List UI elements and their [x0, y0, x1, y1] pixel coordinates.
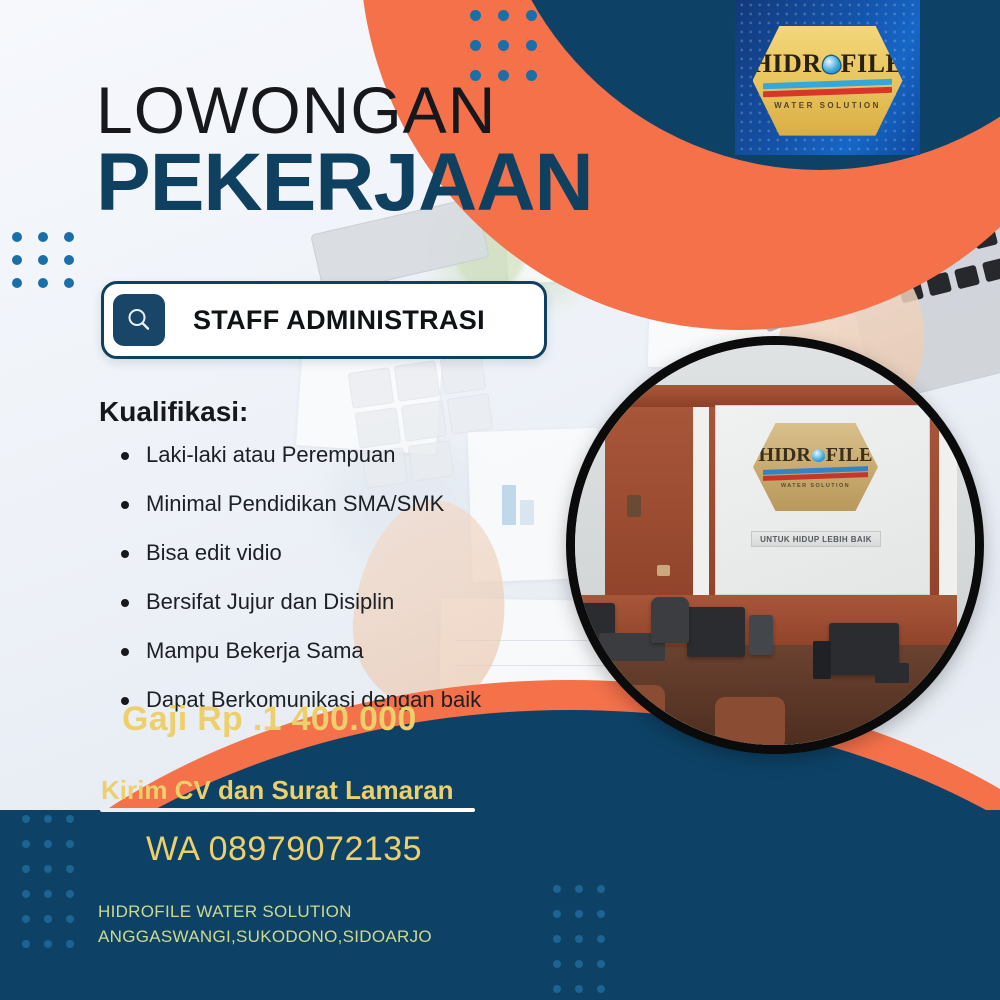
job-vacancy-poster: HIDR FILE WATER SOLUTION — [0, 0, 1000, 1000]
headline-line-1: LOWONGAN — [96, 78, 593, 143]
photo-power-outlet — [657, 565, 670, 576]
qualification-item: Mampu Bekerja Sama — [113, 640, 481, 662]
company-address: ANGGASWANGI,SUKODONO,SIDOARJO — [98, 925, 432, 950]
photo-wall-panel — [627, 495, 641, 517]
brand-logo-panel: HIDR FILE WATER SOLUTION — [735, 0, 920, 155]
dot-grid-bottom-center — [553, 885, 619, 1000]
poster-headline: LOWONGAN PEKERJAAN — [96, 78, 593, 223]
cta-text: Kirim CV dan Surat Lamaran — [101, 775, 454, 806]
dot-grid-left — [12, 232, 90, 301]
photo-chair-back — [651, 597, 689, 643]
photo-logo-hexagon: HIDR FILE WATER SOLUTION — [753, 423, 878, 511]
logo-tagline: WATER SOLUTION — [774, 101, 881, 110]
photo-motto-plaque: UNTUK HIDUP LEBIH BAIK — [751, 531, 881, 547]
dot-grid-bottom-left — [22, 815, 88, 965]
photo-logo-tagline: WATER SOLUTION — [781, 483, 850, 489]
qualifications-heading: Kualifikasi: — [99, 396, 248, 428]
company-address-block: HIDROFILE WATER SOLUTION ANGGASWANGI,SUK… — [98, 900, 432, 949]
qualifications-list: Laki-laki atau Perempuan Minimal Pendidi… — [113, 444, 481, 738]
whatsapp-contact: WA 08979072135 — [146, 830, 422, 869]
hidrofile-logo: HIDR FILE WATER SOLUTION — [753, 26, 903, 136]
job-title-text: STAFF ADMINISTRASI — [193, 305, 485, 336]
logo-brand-last: FILE — [841, 51, 904, 77]
qualification-item: Bersifat Jujur dan Disiplin — [113, 591, 481, 613]
office-interior-photo: HIDR FILE WATER SOLUTION UNTUK HIDUP LEB… — [566, 336, 984, 754]
photo-wall-logo: HIDR FILE WATER SOLUTION — [753, 423, 878, 511]
company-name: HIDROFILE WATER SOLUTION — [98, 900, 432, 925]
photo-logo-wordmark: HIDR FILE — [759, 445, 873, 465]
job-title-pill: STAFF ADMINISTRASI — [101, 281, 547, 359]
photo-chair — [715, 697, 785, 745]
photo-chair-back — [749, 615, 773, 655]
logo-brand-first: HIDR — [752, 51, 822, 77]
photo-logo-brand-last: FILE — [826, 445, 873, 465]
qualification-item: Bisa edit vidio — [113, 542, 481, 564]
cta-underline — [100, 808, 475, 812]
photo-wood-trim-top — [575, 385, 957, 407]
logo-wordmark: HIDR FILE — [752, 51, 904, 77]
salary-text: Gaji Rp .1 400.000 — [122, 700, 417, 739]
photo-monitor — [687, 607, 745, 657]
photo-logo-brand-first: HIDR — [759, 445, 811, 465]
qualification-item: Laki-laki atau Perempuan — [113, 444, 481, 466]
water-droplet-icon — [822, 54, 841, 73]
headline-line-2: PEKERJAAN — [96, 143, 593, 223]
logo-hexagon-shape: HIDR FILE WATER SOLUTION — [753, 26, 903, 136]
qualification-item: Minimal Pendidikan SMA/SMK — [113, 493, 481, 515]
search-icon — [113, 294, 165, 346]
water-droplet-icon — [812, 449, 825, 462]
photo-chair — [603, 685, 665, 745]
photo-cpu-tower — [813, 641, 831, 679]
photo-device — [875, 663, 909, 683]
